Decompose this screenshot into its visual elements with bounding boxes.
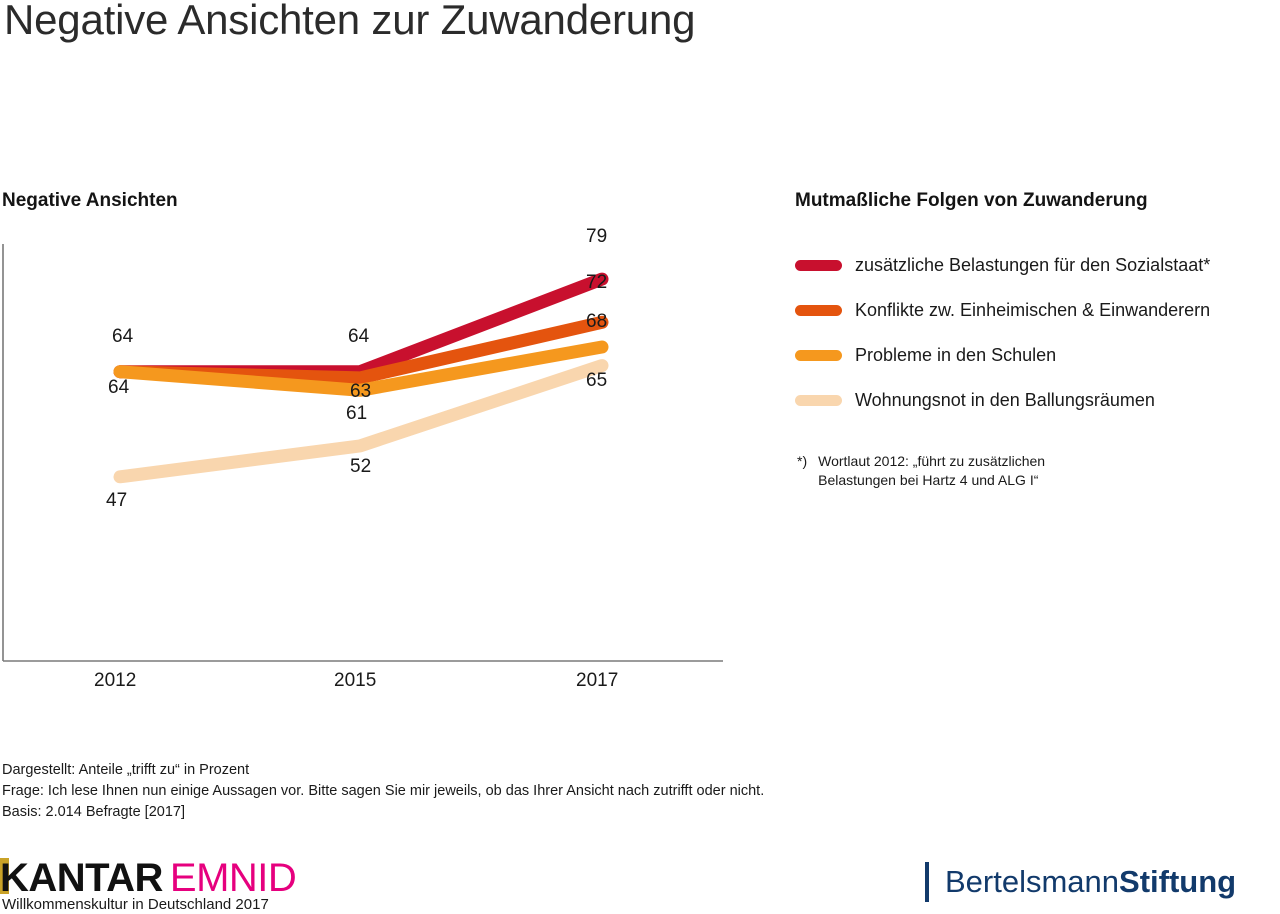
chart-section-heading: Negative Ansichten	[2, 190, 178, 212]
footnote-marker: *)	[797, 452, 807, 490]
value-label-0-2: 79	[586, 226, 607, 248]
legend-swatch-icon-0	[795, 260, 842, 271]
legend-label-0: zusätzliche Belastungen für den Sozialst…	[855, 255, 1210, 276]
emnid-wordmark: EMNID	[170, 856, 296, 901]
legend-footnote: *) Wortlaut 2012: „führt zu zusätzlichen…	[797, 452, 1045, 490]
footnote-line-1: Wortlaut 2012: „führt zu zusätzlichen	[818, 453, 1045, 469]
value-label-3-0: 47	[106, 490, 127, 512]
footnote-text: Wortlaut 2012: „führt zu zusätzlichen Be…	[818, 452, 1045, 490]
bertelsmann-wordmark: BertelsmannStiftung	[945, 864, 1236, 900]
page-title: Negative Ansichten zur Zuwanderung	[4, 0, 695, 44]
legend-label-2: Probleme in den Schulen	[855, 345, 1056, 366]
infographic-page: Negative Ansichten zur Zuwanderung Negat…	[0, 0, 1280, 914]
chart-legend: zusätzliche Belastungen für den Sozialst…	[795, 243, 1275, 423]
bertelsmann-stiftung-logo: BertelsmannStiftung	[925, 862, 1236, 902]
value-label-2-0: 61	[346, 403, 367, 425]
legend-item-0[interactable]: zusätzliche Belastungen für den Sozialst…	[795, 243, 1275, 288]
x-tick-2017: 2017	[576, 670, 618, 692]
footnote-line-2: Belastungen bei Hartz 4 und ALG I“	[818, 472, 1038, 488]
series-layer	[120, 279, 602, 477]
legend-swatch-icon-1	[795, 305, 842, 316]
kantar-wordmark: KANTAR	[0, 856, 163, 901]
value-label-2-1: 68	[586, 311, 607, 333]
value-label-1-0: 64	[108, 377, 129, 399]
note-dargestellt: Dargestellt: Anteile „trifft zu“ in Proz…	[2, 760, 764, 781]
legend-label-1: Konflikte zw. Einheimischen & Einwandere…	[855, 300, 1210, 321]
legend-item-1[interactable]: Konflikte zw. Einheimischen & Einwandere…	[795, 288, 1275, 333]
legend-item-2[interactable]: Probleme in den Schulen	[795, 333, 1275, 378]
bertelsmann-bold-word: Stiftung	[1119, 864, 1236, 899]
footer-notes: Dargestellt: Anteile „trifft zu“ in Proz…	[2, 760, 764, 823]
kantar-emnid-logo: KANTAR EMNID	[0, 856, 296, 901]
line-chart: 6464796463726168475265 201220152017	[0, 220, 760, 680]
legend-swatch-icon-2	[795, 350, 842, 361]
legend-section-heading: Mutmaßliche Folgen von Zuwanderung	[795, 190, 1148, 212]
legend-label-3: Wohnungsnot in den Ballungsräumen	[855, 390, 1155, 411]
legend-item-3[interactable]: Wohnungsnot in den Ballungsräumen	[795, 378, 1275, 423]
value-label-0-0: 64	[112, 326, 133, 348]
value-label-3-2: 65	[586, 370, 607, 392]
chart-svg	[0, 220, 760, 680]
legend-swatch-icon-3	[795, 395, 842, 406]
bertelsmann-light-word: Bertelsmann	[945, 864, 1119, 899]
note-basis: Basis: 2.014 Befragte [2017]	[2, 802, 764, 823]
x-tick-2012: 2012	[94, 670, 136, 692]
bertelsmann-bar	[925, 862, 929, 902]
value-label-0-1: 64	[348, 326, 369, 348]
x-tick-2015: 2015	[334, 670, 376, 692]
value-label-1-1: 63	[350, 381, 371, 403]
value-label-1-2: 72	[586, 272, 607, 294]
note-frage: Frage: Ich lese Ihnen nun einige Aussage…	[2, 781, 764, 802]
value-label-3-1: 52	[350, 456, 371, 478]
study-subtitle: Willkommenskultur in Deutschland 2017	[2, 896, 269, 913]
